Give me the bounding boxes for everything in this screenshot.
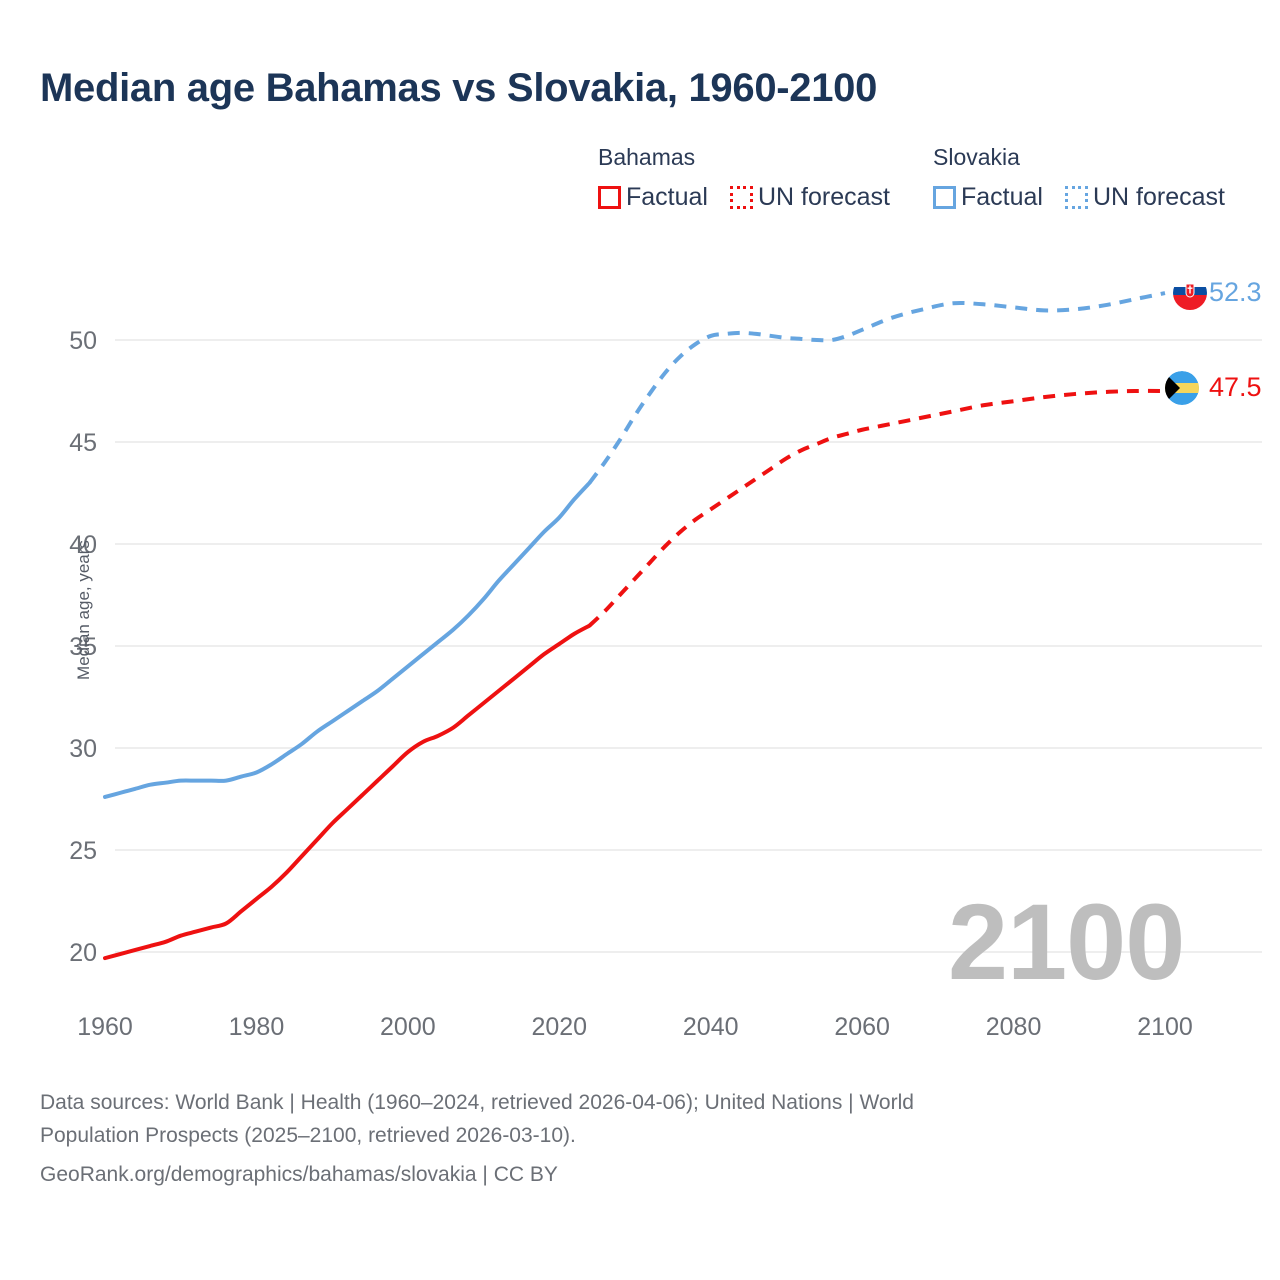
footer-line-3[interactable]: GeoRank.org/demographics/bahamas/slovaki… (40, 1158, 1200, 1191)
footer-sources: Data sources: World Bank | Health (1960–… (40, 1086, 1200, 1191)
gridlines (115, 340, 1262, 952)
y-tick-label: 30 (69, 735, 97, 763)
line-bahamas-factual (105, 626, 590, 959)
x-tick-label: 1960 (77, 1013, 133, 1041)
bahamas-flag-icon (1165, 371, 1199, 405)
line-bahamas-forecast (590, 391, 1165, 626)
slovakia-flag-icon (1173, 276, 1207, 310)
line-slovakia-forecast (590, 293, 1165, 483)
x-tick-label: 2040 (683, 1013, 739, 1041)
plot-area: 50454035302520 1960198020002020204020602… (0, 0, 1280, 1060)
x-tick-label: 2080 (986, 1013, 1042, 1041)
y-axis-title: Median age, years (74, 500, 94, 720)
y-tick-label: 25 (69, 837, 97, 865)
y-tick-label: 20 (69, 939, 97, 967)
y-tick-label: 45 (69, 429, 97, 457)
x-tick-label: 2060 (834, 1013, 890, 1041)
footer-line-1: Data sources: World Bank | Health (1960–… (40, 1086, 1200, 1119)
series-lines (105, 293, 1165, 958)
y-tick-label: 50 (69, 327, 97, 355)
chart-page: Median age Bahamas vs Slovakia, 1960-210… (0, 0, 1280, 1280)
x-tick-labels: 19601980200020202040206020802100 (77, 1013, 1193, 1041)
year-watermark: 2100 (948, 888, 1184, 996)
bahamas-end-value: 47.5 (1209, 372, 1262, 403)
slovakia-end-value: 52.3 (1209, 277, 1262, 308)
x-tick-label: 2100 (1137, 1013, 1193, 1041)
x-tick-label: 2020 (531, 1013, 587, 1041)
x-tick-label: 2000 (380, 1013, 436, 1041)
x-tick-label: 1980 (229, 1013, 285, 1041)
footer-line-2: Population Prospects (2025–2100, retriev… (40, 1119, 1200, 1152)
line-slovakia-factual (105, 483, 590, 797)
